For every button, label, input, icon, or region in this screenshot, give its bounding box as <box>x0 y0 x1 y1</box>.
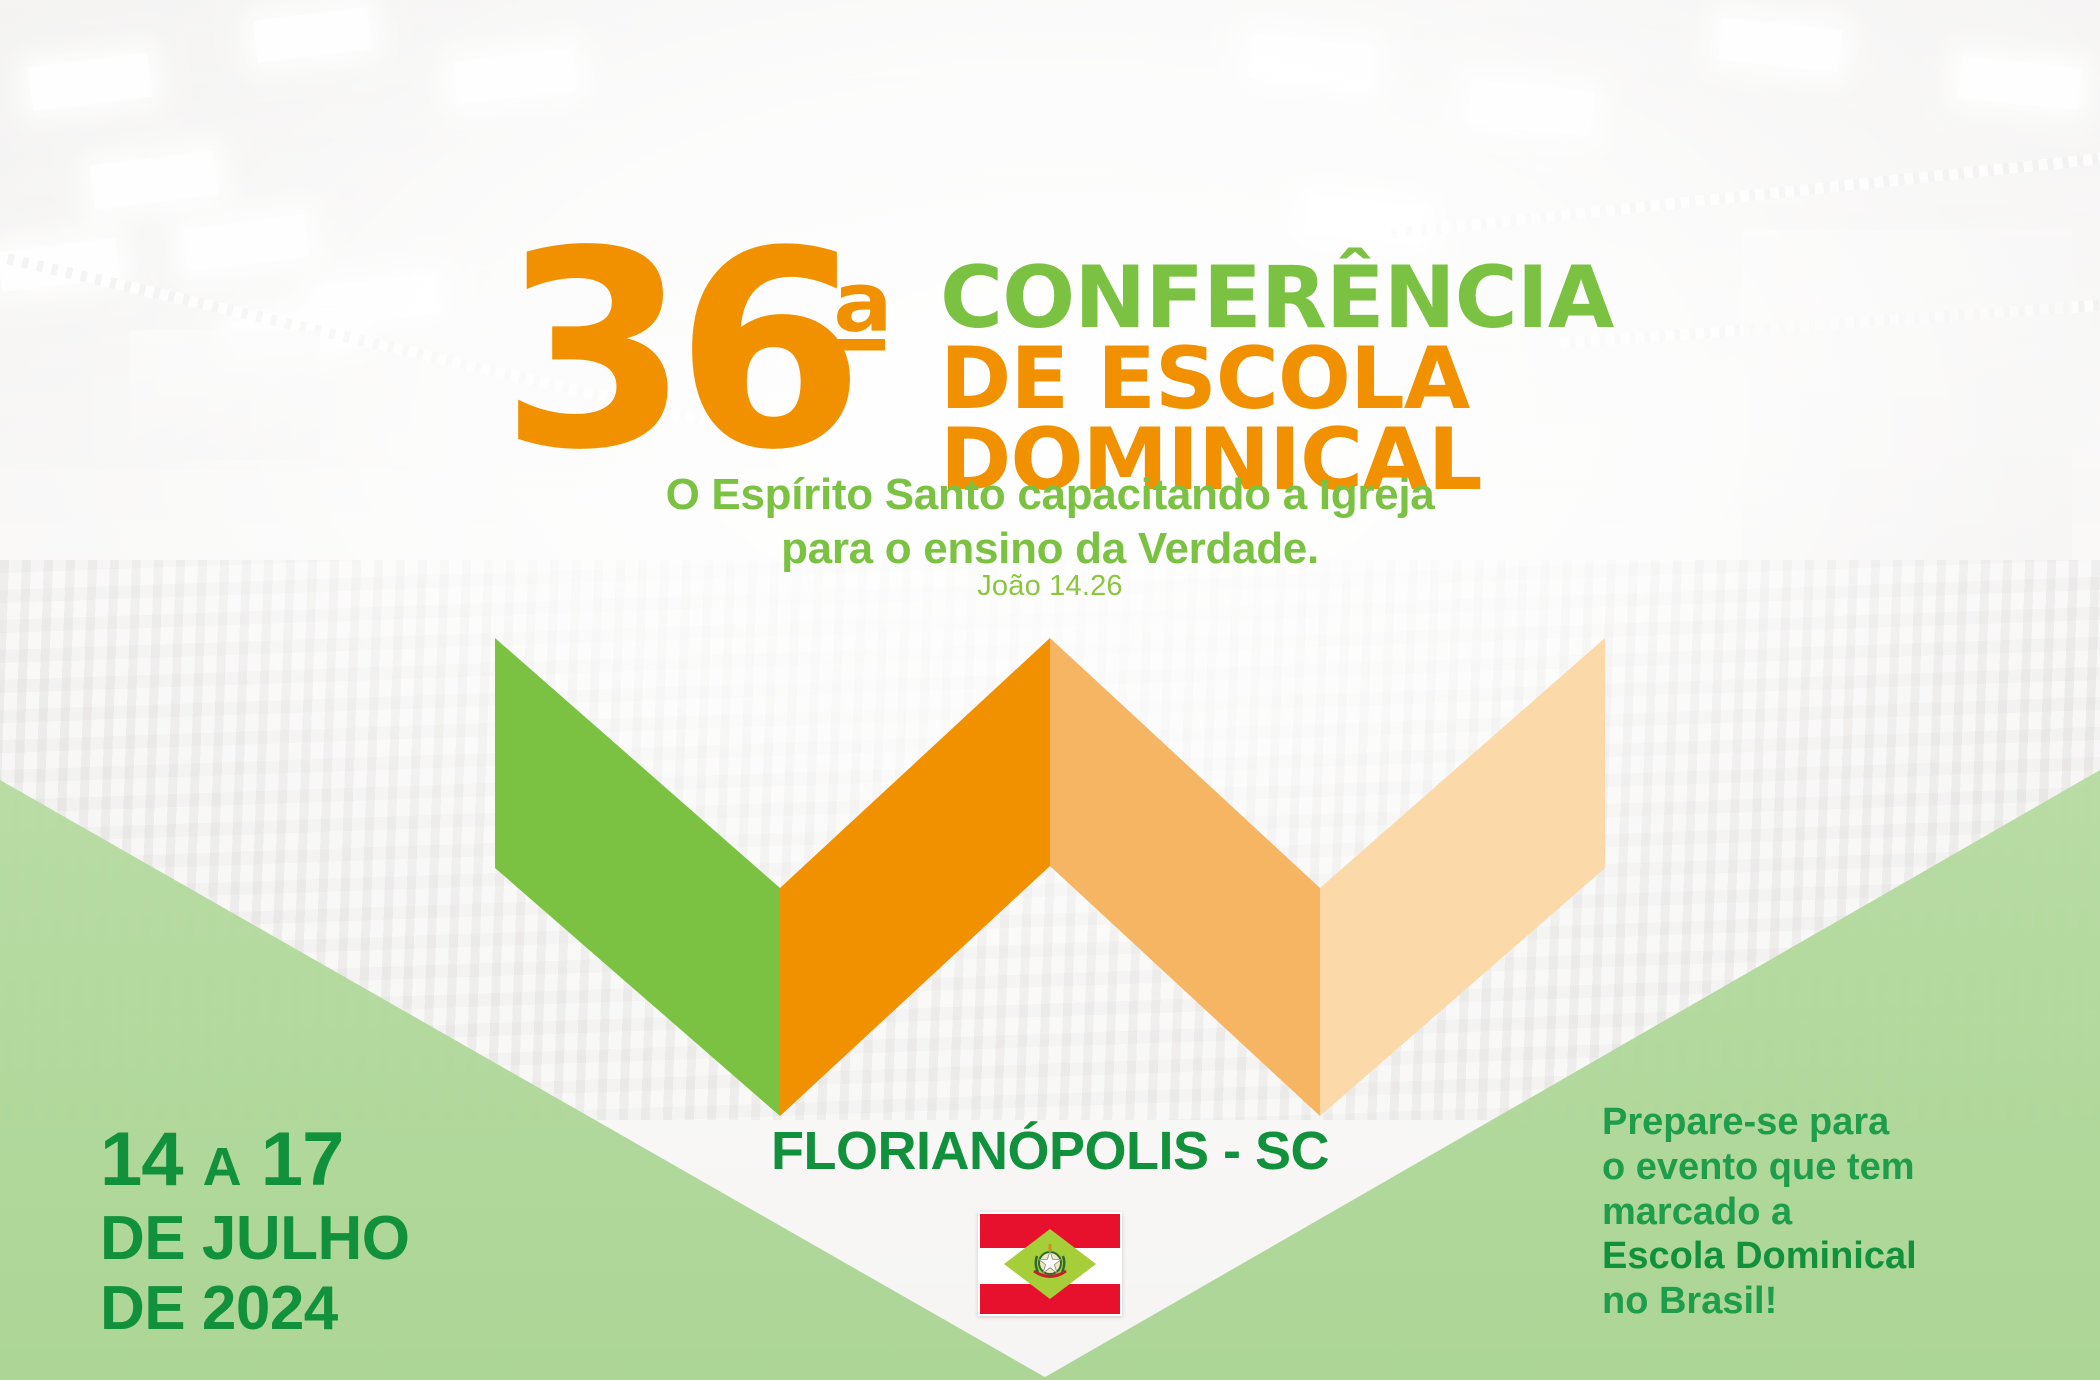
logo-panel-orange-light <box>1050 638 1320 1116</box>
edition-number: 36 <box>500 246 851 458</box>
verse-reference: João 14.26 <box>0 570 2100 603</box>
date-day-range: 14 A 17 <box>100 1122 409 1198</box>
tagline-line-2: para o ensino da Verdade. <box>0 522 2100 576</box>
edition-ordinal: ª <box>828 272 895 390</box>
promo-line-1: Prepare-se para <box>1602 1101 1889 1143</box>
logo-panel-orange <box>780 638 1050 1116</box>
title-lines: CONFERÊNCIA DE ESCOLA DOMINICAL <box>940 258 1613 500</box>
promo-text-block: Prepare-se para o evento que tem marcado… <box>1602 1100 2022 1324</box>
date-month: DE JULHO <box>100 1208 409 1270</box>
headline-block: 36 ª CONFERÊNCIA DE ESCOLA DOMINICAL <box>0 120 2100 440</box>
date-day-start: 14 <box>100 1117 183 1202</box>
date-day-end: 17 <box>261 1117 344 1202</box>
date-year: DE 2024 <box>100 1278 409 1340</box>
tagline-block: O Espírito Santo capacitando a Igreja pa… <box>0 468 2100 575</box>
promo-line-3: marcado a <box>1602 1191 1792 1233</box>
open-book-chevron-logo <box>495 638 1605 1116</box>
title-line-de-escola: DE ESCOLA <box>940 339 1613 420</box>
flag-coat-of-arms-icon <box>1028 1242 1072 1286</box>
promo-line-5: no Brasil! <box>1602 1280 1777 1322</box>
promo-line-4-bold: Escola Dominical <box>1602 1234 2022 1279</box>
santa-catarina-flag <box>978 1212 1122 1316</box>
logo-panel-orange-pale <box>1320 638 1605 1116</box>
logo-panel-green <box>495 638 780 1116</box>
title-line-conferencia: CONFERÊNCIA <box>940 258 1613 339</box>
tagline-line-1: O Espírito Santo capacitando a Igreja <box>0 468 2100 522</box>
event-dates-block: 14 A 17 DE JULHO DE 2024 <box>100 1122 409 1340</box>
banner-canvas: 36 ª CONFERÊNCIA DE ESCOLA DOMINICAL O E… <box>0 0 2100 1380</box>
date-separator: A <box>203 1137 241 1197</box>
promo-line-2: o evento que tem <box>1602 1146 1915 1188</box>
